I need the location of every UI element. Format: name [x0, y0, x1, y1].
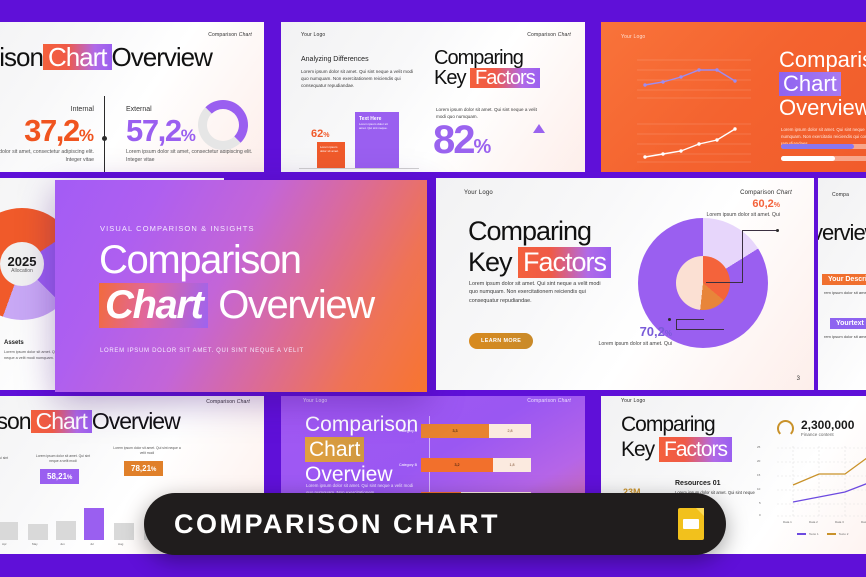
logo-text: Your Logo [621, 34, 645, 40]
kpi-internal: Internal 37,2% Lorem ipsum dolor sit ame… [0, 106, 94, 165]
slides-collage-stage: Comparison Chart mparisonChartOverview I… [0, 0, 866, 577]
donut-center-year: 2025 [4, 254, 40, 269]
bar-right: Text Here Lorem ipsum dolor sit amet. Qu… [355, 112, 399, 168]
paragraph: Lorem ipsum dolor sit amet. Qui sint neq… [469, 280, 609, 305]
leader-dot-top [776, 229, 779, 232]
breadcrumb: Comparison Chart [527, 398, 571, 404]
donut-external-icon [198, 100, 248, 150]
logo-text: Your Logo [303, 398, 327, 404]
breadcrumb: Comparison Chart [527, 32, 571, 38]
tag-orange: Your Descripti [822, 274, 866, 285]
leader-line-top-v [742, 230, 743, 282]
kpi-external-value: 57,2 [126, 113, 181, 148]
hero-eyebrow: VISUAL COMPARISON & INSIGHTS [100, 224, 255, 233]
kpi-external-desc: Lorem ipsum dolor sit amet, consectetur … [126, 149, 262, 165]
page-title: Comparing Key Factors [621, 412, 732, 462]
banner-title: COMPARISON CHART [174, 509, 500, 540]
finance-kpi: 2,300,000 Finance content [801, 418, 854, 437]
finance-value: 2,300,000 [801, 418, 854, 432]
slide-mid-far-right[interactable]: Compa verview Your Descripti rem ipsum d… [818, 178, 866, 390]
page-title: verview [818, 222, 866, 244]
breadcrumb-emphasis: Chart [239, 32, 252, 38]
breadcrumb: Comparison Chart [206, 399, 250, 405]
callout-bottom: 70,2% Lorem ipsum dolor sit amet. Qui [576, 323, 672, 349]
chip-caption-3: Lorem ipsum dolor sit amet. Qui sint neq… [112, 446, 182, 456]
leader-line-bottom-h2 [676, 319, 704, 320]
title-highlight: Factors [470, 68, 540, 88]
logo-text: Your Logo [301, 32, 325, 38]
kpi-internal-unit: % [79, 126, 94, 145]
leader-line-bottom-v [676, 319, 677, 330]
kpi-external-unit: % [181, 126, 196, 145]
page-title: Comparing Key Factors [434, 48, 540, 88]
chart-baseline [299, 168, 419, 169]
hbar-row-1: Category A 3,3 2,8 [389, 424, 531, 438]
leader-line-top-h2 [706, 282, 743, 283]
page-title: Comparis Chart Overview [779, 48, 866, 119]
title-highlight: Chart [43, 44, 112, 70]
leader-dot-bottom [668, 318, 671, 321]
donut-chart-inner [676, 256, 730, 310]
breadcrumb: Compa [832, 192, 849, 198]
progress-bar-1 [781, 144, 866, 149]
page-title: mparisonChartOverview [0, 44, 212, 70]
slide-top-middle[interactable]: Your Logo Comparison Chart Analyzing Dif… [281, 22, 585, 172]
resource-title: Resources 01 [675, 480, 721, 487]
hero-title: Comparison Chart Overview [99, 238, 374, 328]
line-chart-bottom [623, 118, 755, 170]
tag-purple-desc: rem ipsum dolor sit ame ui sint neque. [824, 334, 866, 340]
breadcrumb: Comparison Chart [208, 32, 252, 38]
tag-orange-desc: rem ipsum dolor sit ame eque a velit mod… [824, 290, 866, 296]
learn-more-button[interactable]: LEARN MORE [469, 333, 533, 349]
logo-text: Your Logo [621, 398, 645, 404]
title-highlight: Factors [518, 247, 611, 278]
slide-hero[interactable]: VISUAL COMPARISON & INSIGHTS Comparison … [55, 180, 427, 392]
slide-top-left[interactable]: Comparison Chart mparisonChartOverview I… [0, 22, 264, 172]
page-title: Comparing Key Factors [468, 216, 611, 278]
line-chart [753, 440, 866, 526]
slide-top-right[interactable]: Your Logo Compa Comparis Chart Overview … [601, 22, 866, 172]
progress-bar-2 [781, 156, 866, 161]
chart-legend: Texto 1 Texto 2 [797, 532, 848, 536]
finance-donut-icon [777, 420, 794, 437]
chip-caption-2: Lorem ipsum dolor sit amet. Qui sint neq… [32, 454, 94, 464]
breadcrumb-main: Comparison [208, 32, 237, 38]
title-highlight: Factors [659, 437, 732, 462]
tag-purple: Yourtext [830, 318, 866, 329]
google-slides-icon [678, 508, 704, 540]
leader-line-top-h [742, 230, 778, 231]
kpi-assets-label: Assets [4, 340, 24, 346]
hero-title-highlight: Chart [99, 283, 208, 328]
page-number: 3 [797, 376, 800, 382]
logo-text: Your Logo [464, 190, 493, 196]
title-highlight: Chart [779, 72, 841, 96]
page-title: mparisonChartOverview [0, 410, 180, 433]
title-highlight: Chart [305, 437, 364, 462]
chip-2: 58,21% [40, 469, 79, 484]
callout-top: 60,2% Lorem ipsum dolor sit amet. Qui [688, 194, 780, 220]
comparison-chart-banner[interactable]: COMPARISON CHART [144, 493, 726, 555]
bar-left-value-label: 62% [311, 128, 329, 140]
kpi-internal-label: Internal [0, 106, 94, 113]
slide-mid-right[interactable]: Your Logo Comparison Chart Comparing Key… [436, 178, 814, 390]
bar-left: Lorem ipsum dolor sit amet. [317, 142, 345, 168]
chip-caption-1: Lorem ipsum dolor sit amet. Qui sint neq… [0, 456, 12, 466]
triangle-up-icon [533, 124, 545, 133]
leader-line-bottom-h [676, 329, 724, 330]
hbar-row-2: Category B 3,2 1,8 [389, 458, 531, 472]
subheading: Analyzing Differences [301, 56, 369, 63]
sub-paragraph: Lorem ipsum dolor sit amet. Qui sint neq… [301, 68, 421, 89]
donut-center-sub: Allocation [4, 268, 40, 274]
finance-label: Finance content [801, 432, 854, 437]
kpi-big-number: 82% [433, 118, 489, 163]
kpi-internal-desc: Lorem ipsum dolor sit amet, consectetur … [0, 149, 94, 165]
line-chart-top [623, 54, 755, 104]
kpi-internal-value: 37,2 [24, 113, 79, 148]
vertical-divider [104, 96, 105, 172]
hero-footer: LOREM IPSUM DOLOR SIT AMET. QUI SINT NEQ… [100, 348, 304, 354]
chip-3: 78,21% [124, 461, 163, 476]
title-highlight: Chart [31, 410, 92, 433]
